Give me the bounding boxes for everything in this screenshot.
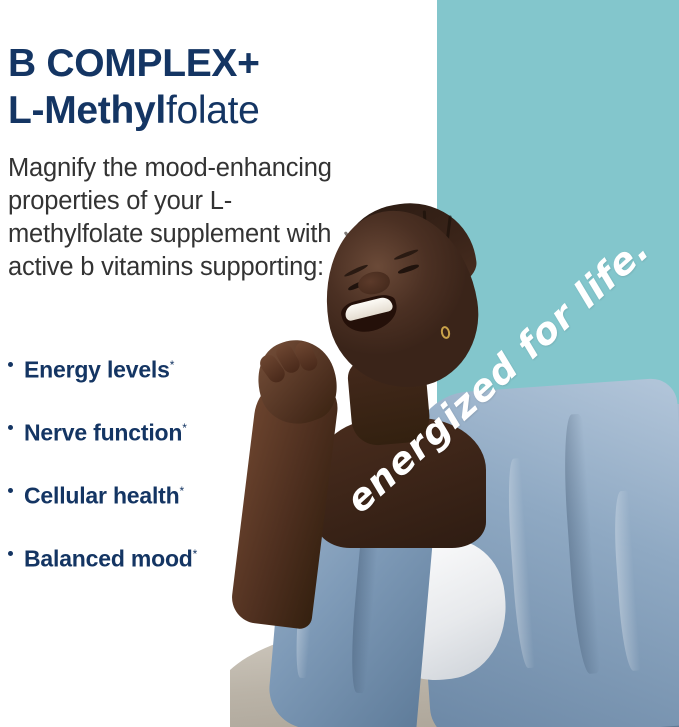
- fabric-fold: [505, 458, 542, 669]
- page-title: B COMPLEX+ L-Methylfolate: [8, 40, 260, 134]
- eye-right: [397, 263, 419, 275]
- benefits-list: Energy levels* Nerve function* Cellular …: [4, 350, 334, 602]
- footnote-marker: *: [170, 358, 174, 372]
- footnote-marker: *: [180, 484, 184, 498]
- title-line-1: B COMPLEX+: [8, 42, 260, 85]
- bullet-dot-icon: [8, 362, 13, 367]
- fabric-fold: [611, 490, 647, 671]
- list-item: Cellular health*: [4, 476, 334, 539]
- benefit-label: Cellular health: [24, 483, 180, 509]
- title-line-2-light: folate: [166, 89, 260, 132]
- bullet-dot-icon: [8, 488, 13, 493]
- bullet-dot-icon: [8, 551, 13, 556]
- list-item: Energy levels*: [4, 350, 334, 413]
- marketing-graphic: B COMPLEX+ L-Methylfolate Magnify the mo…: [0, 0, 679, 727]
- list-item: Nerve function*: [4, 413, 334, 476]
- footnote-marker: *: [193, 547, 197, 561]
- benefit-label: Nerve function: [24, 420, 182, 446]
- list-item: Balanced mood*: [4, 539, 334, 602]
- fabric-fold-shadow: [560, 413, 608, 674]
- title-line-2-bold: L-Methyl: [8, 89, 166, 132]
- benefit-label: Balanced mood: [24, 546, 193, 572]
- benefit-label: Energy levels: [24, 357, 170, 383]
- bullet-dot-icon: [8, 425, 13, 430]
- footnote-marker: *: [182, 421, 186, 435]
- eyebrow-right: [393, 248, 419, 261]
- body-copy: Magnify the mood-enhancing properties of…: [8, 152, 360, 284]
